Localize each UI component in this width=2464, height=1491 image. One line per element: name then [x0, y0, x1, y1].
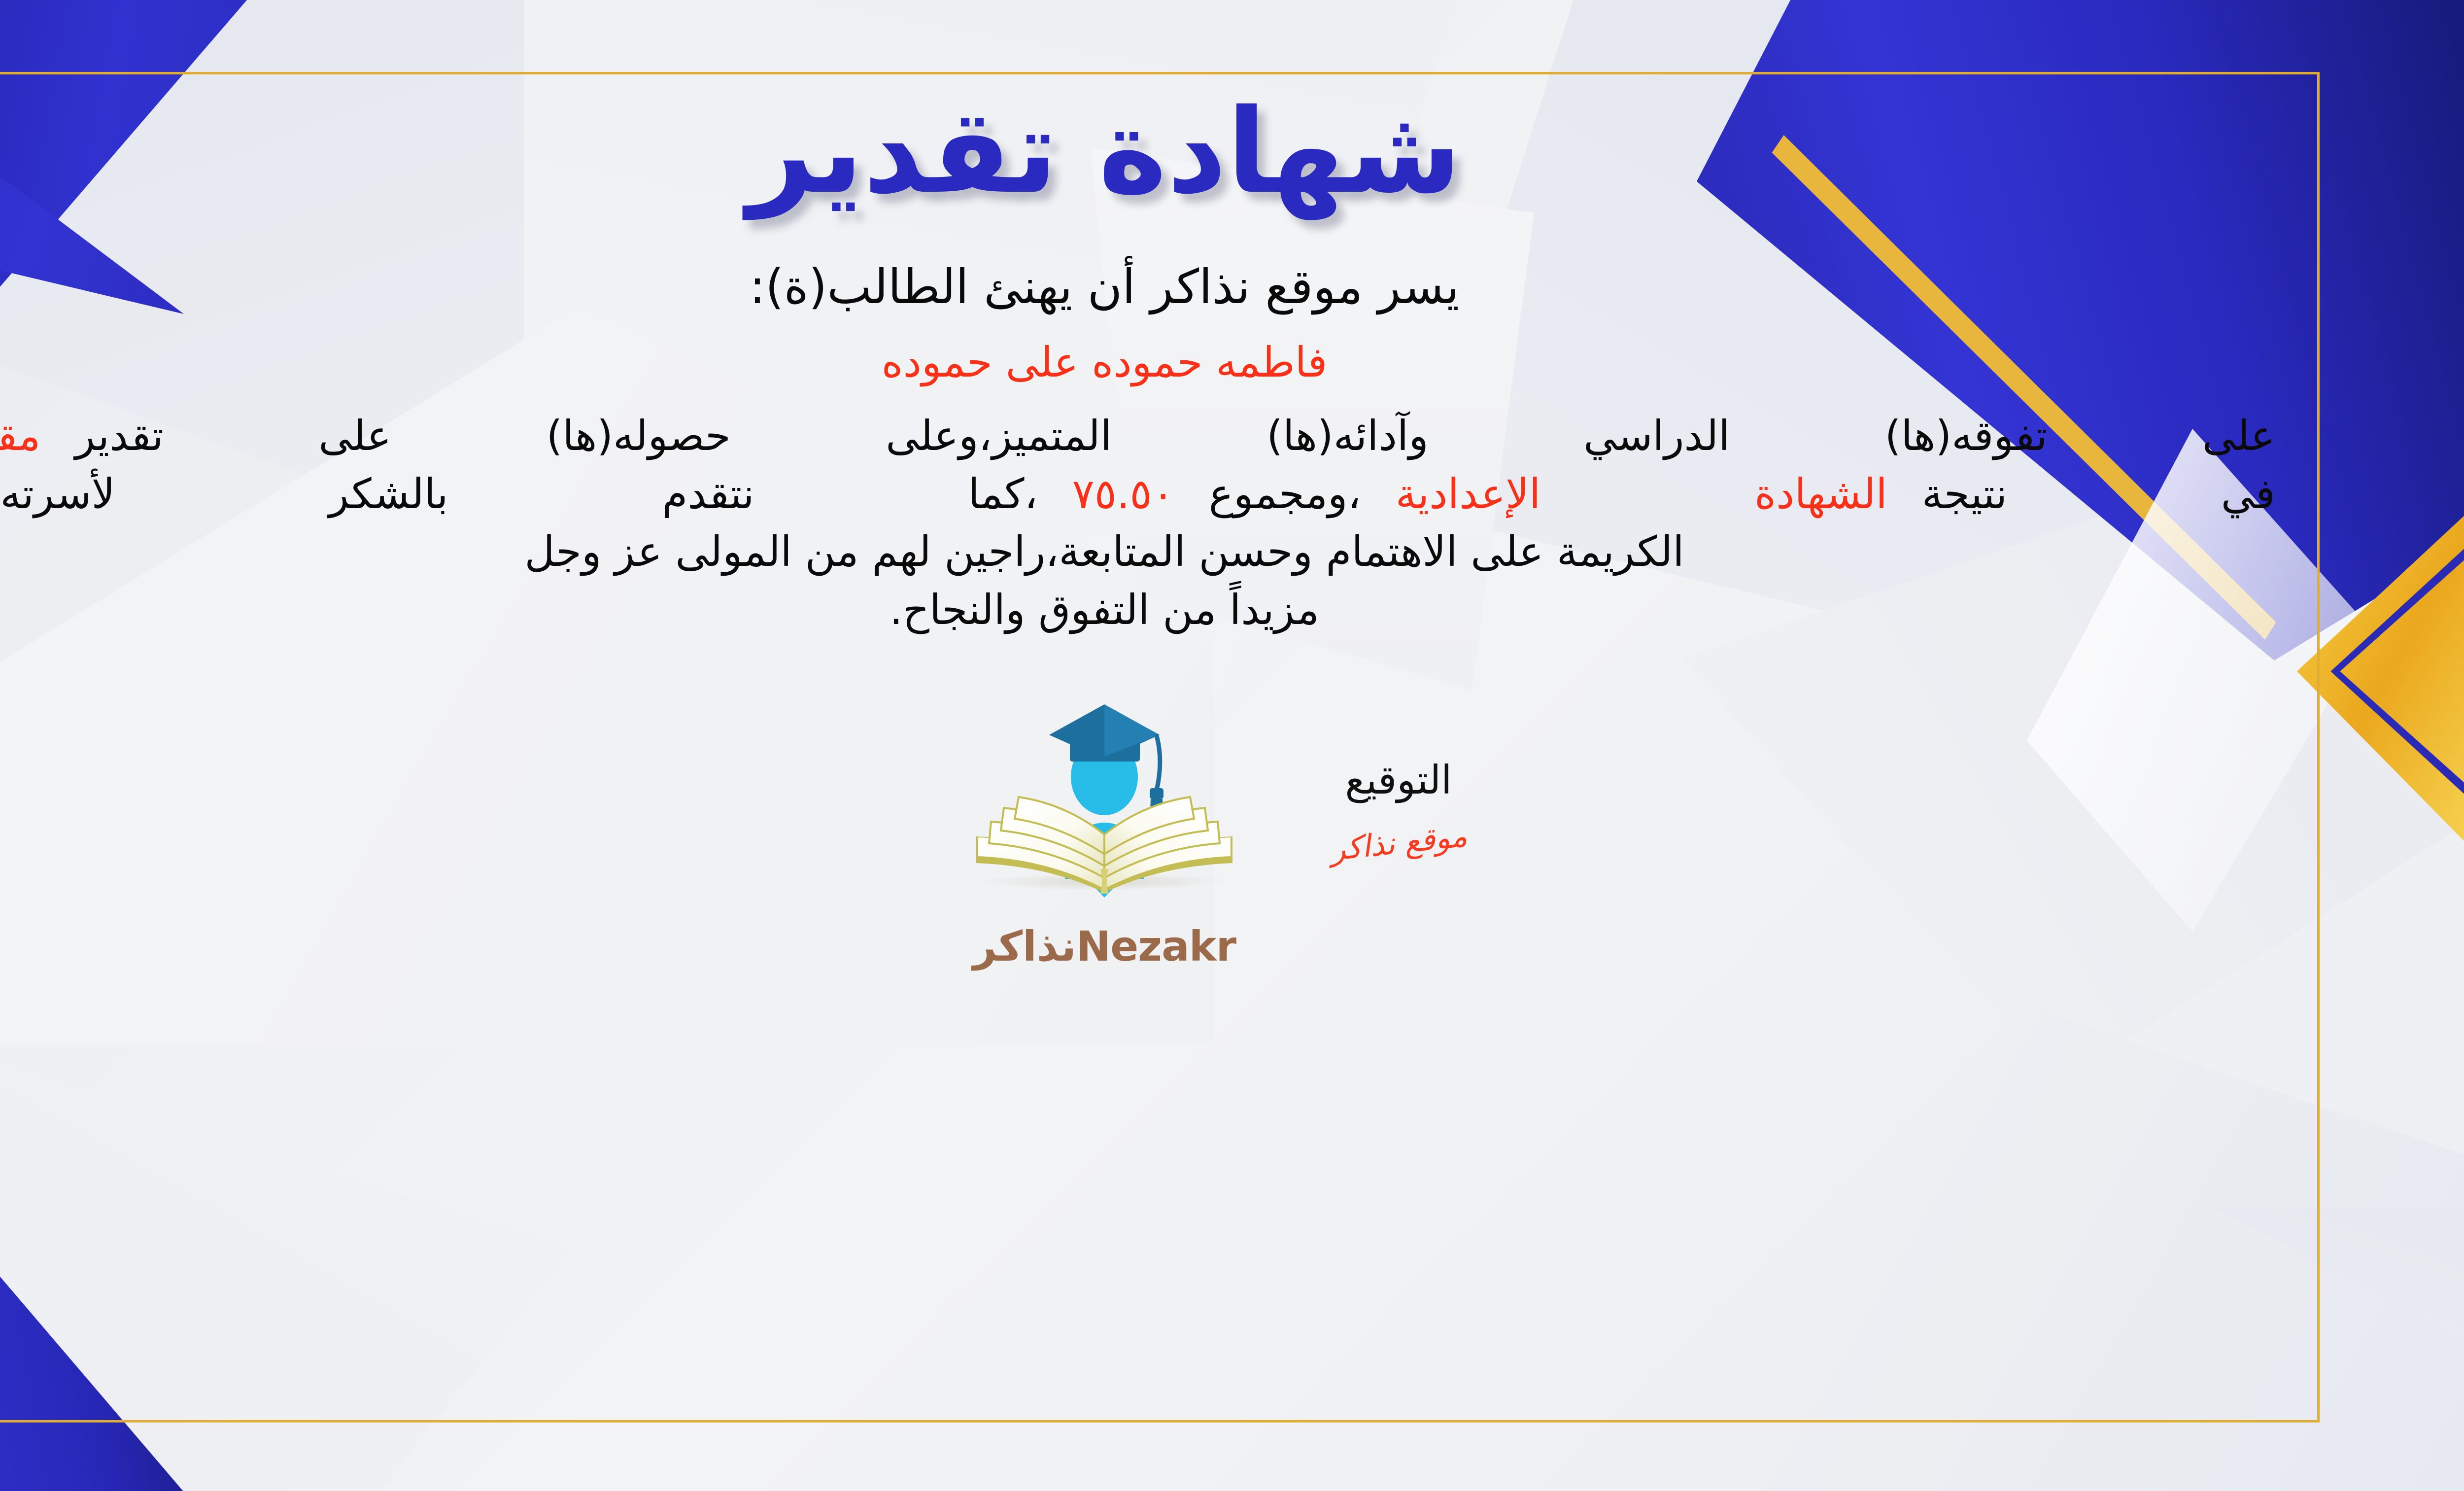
exam-name: الشهادة الإعدادية [1396, 470, 1887, 518]
certificate-body: على تفوقه(ها) الدراسي وآدائه(ها) المتميز… [0, 407, 2275, 639]
body-line-1-text: على تفوقه(ها) الدراسي وآدائه(ها) المتميز… [75, 412, 2275, 460]
body-line-2: في نتيجةالشهادة الإعدادية،ومجموع٧٥.٥٠،كم… [0, 465, 2275, 523]
student-name: فاطمه حموده على حموده [0, 338, 2320, 386]
grade-value: مقبول [0, 412, 40, 460]
nezakr-logo: Nezakrنذاكر [917, 695, 1292, 971]
signature-block: التوقيع موقع نذاكر [1330, 757, 1467, 861]
body-line-1: على تفوقه(ها) الدراسي وآدائه(ها) المتميز… [0, 407, 2275, 465]
total-score: ٧٥.٥٠ [1072, 470, 1174, 518]
body-line-4: مزيداً من التفوق والنجاح. [0, 581, 2275, 639]
certificate-page: شهادة تقدير يسر موقع نذاكر أن يهنئ الطال… [0, 0, 2464, 1491]
certificate-content: شهادة تقدير يسر موقع نذاكر أن يهنئ الطال… [0, 72, 2320, 1422]
signature-label: التوقيع [1330, 757, 1467, 803]
body-line-3: الكريمة على الاهتمام وحسن المتابعة،راجين… [0, 523, 2275, 581]
certificate-title: شهادة تقدير [0, 79, 2320, 224]
body-line-2-prefix: في نتيجة [1922, 470, 2275, 518]
greeting-line: يسر موقع نذاكر أن يهنئ الطالب(ة): [0, 259, 2320, 314]
body-line-2-suffix: ،كما نتقدم بالشكر لأسرته(ها) [0, 470, 1038, 518]
signature-script: موقع نذاكر [1329, 818, 1469, 868]
logo-brand-text: Nezakrنذاكر [917, 922, 1292, 971]
body-line-2-mid: ،ومجموع [1209, 470, 1361, 518]
